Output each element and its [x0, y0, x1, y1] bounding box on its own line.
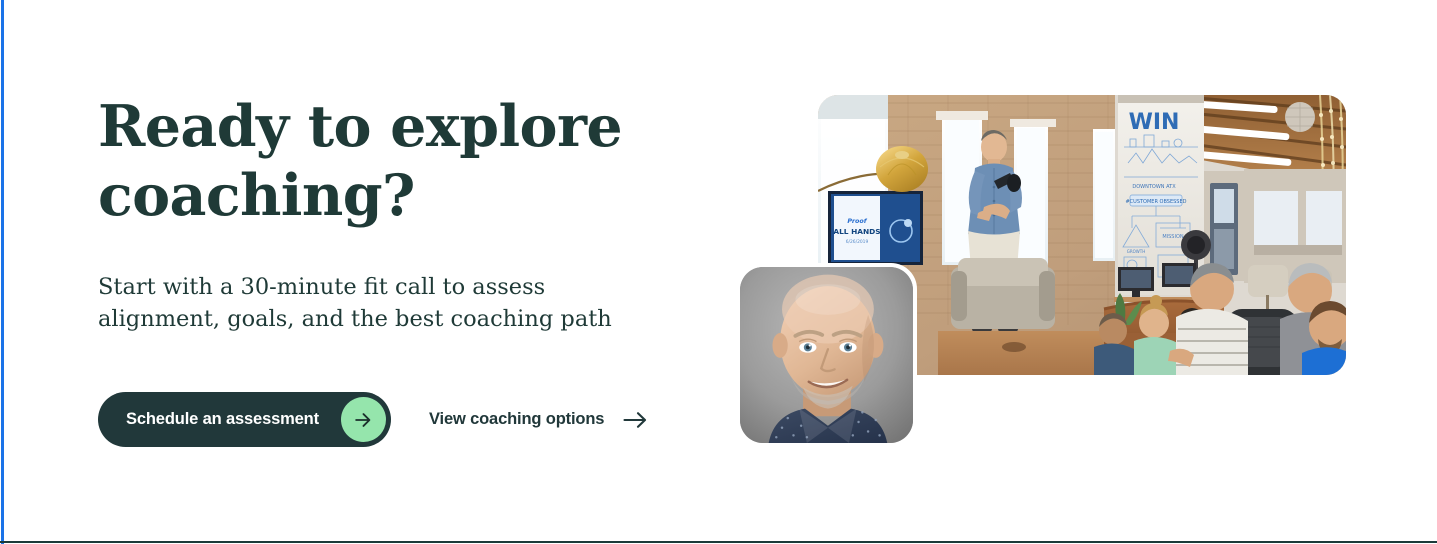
hero-media-column: Proof ALL HANDS 6/26/2019 [736, 88, 1356, 458]
coach-headshot-illustration [740, 267, 913, 443]
schedule-an-assessment-button[interactable]: Schedule an assessment [98, 392, 391, 447]
page-left-accent-rule [1, 0, 4, 544]
view-coaching-options-label: View coaching options [429, 410, 604, 429]
arrow-right-icon-circle [341, 397, 386, 442]
svg-text:ALL HANDS: ALL HANDS [833, 227, 880, 236]
page-bottom-divider [0, 541, 1437, 543]
coach-headshot-card [736, 263, 917, 447]
svg-text:Proof: Proof [847, 217, 867, 225]
svg-text:6/26/2019: 6/26/2019 [846, 239, 869, 245]
arrow-right-icon [352, 409, 374, 431]
hero-copy-column: Ready to explore coaching? Start with a … [98, 92, 688, 335]
svg-text:#CUSTOMER OBSESSED: #CUSTOMER OBSESSED [1125, 199, 1186, 205]
svg-text:DOWNTOWN ATX: DOWNTOWN ATX [1132, 184, 1176, 190]
svg-text:GROWTH: GROWTH [1127, 249, 1145, 254]
cta-row: Schedule an assessment View coaching opt… [98, 392, 650, 447]
schedule-an-assessment-label: Schedule an assessment [126, 410, 319, 429]
svg-text:MISSION: MISSION [1162, 234, 1184, 240]
coach-headshot [740, 267, 913, 443]
hero-subtext: Start with a 30-minute fit call to asses… [98, 271, 654, 335]
arrow-right-icon [622, 409, 648, 431]
svg-text:WIN: WIN [1129, 110, 1180, 135]
hero-cta-section: Ready to explore coaching? Start with a … [0, 0, 1437, 544]
view-coaching-options-link[interactable]: View coaching options [427, 403, 650, 437]
page-title: Ready to explore coaching? [98, 92, 658, 230]
